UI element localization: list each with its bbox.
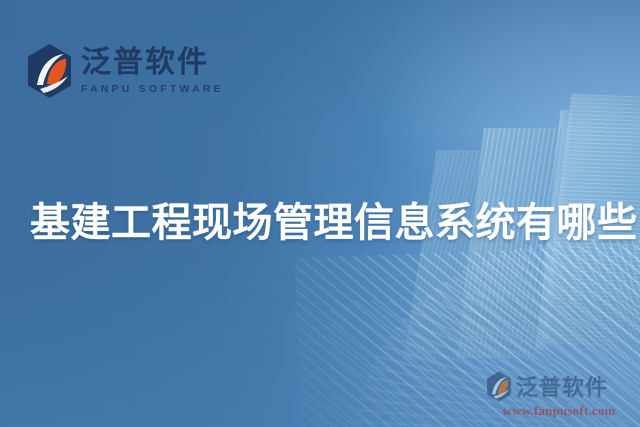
watermark: 泛普软件 www.fanpusoft.com bbox=[486, 370, 632, 419]
tower-background bbox=[403, 150, 494, 360]
brand-logo: 泛普软件 FANPU SOFTWARE bbox=[27, 43, 224, 99]
brand-name-en: FANPU SOFTWARE bbox=[81, 84, 224, 95]
watermark-logo-row: 泛普软件 bbox=[486, 370, 632, 402]
fanpu-hexagon-logo-icon bbox=[27, 43, 72, 99]
watermark-url: www.fanpusoft.com bbox=[486, 403, 632, 419]
fanpu-hexagon-logo-icon bbox=[486, 371, 512, 402]
page-title: 基建工程现场管理信息系统有哪些 bbox=[30, 190, 622, 248]
promo-banner: 泛普软件 FANPU SOFTWARE 基建工程现场管理信息系统有哪些 泛普软件… bbox=[0, 0, 640, 427]
brand-name-cn: 泛普软件 bbox=[81, 48, 224, 78]
brand-wordmark: 泛普软件 FANPU SOFTWARE bbox=[81, 48, 224, 95]
watermark-name-cn: 泛普软件 bbox=[516, 370, 608, 402]
